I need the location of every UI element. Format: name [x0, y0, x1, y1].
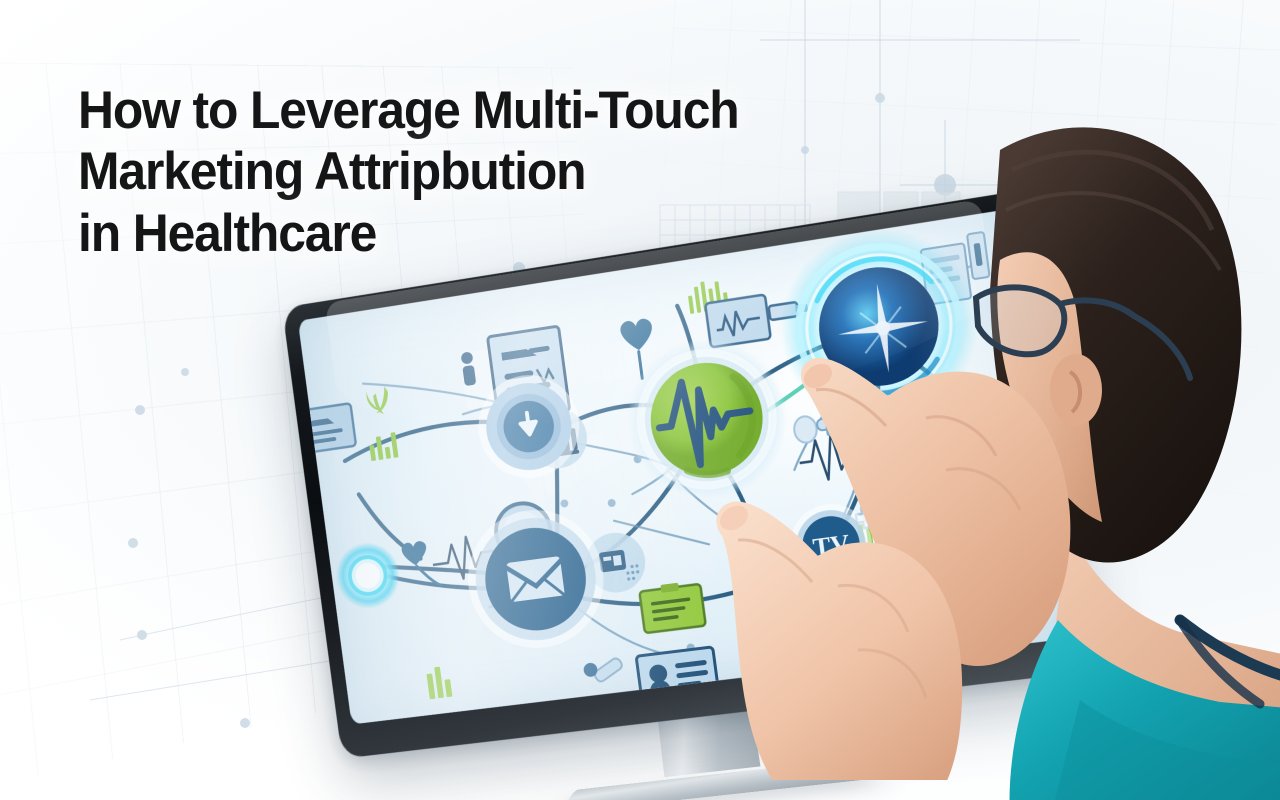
- page-title-line-3: in Healthcare: [78, 203, 886, 264]
- list-card-icon[interactable]: [299, 403, 356, 453]
- page-title-line-1: How to Leverage Multi-Touch: [78, 80, 886, 141]
- entry-touchpoint-glow-node[interactable]: [332, 539, 404, 613]
- page-title-line-2: Marketing Attripbution: [78, 141, 886, 202]
- scene-root: How to Leverage Multi-Touch Marketing At…: [0, 0, 1280, 800]
- leaf-icon: [366, 386, 391, 416]
- envelope-icon: [506, 556, 565, 602]
- syringe-icon: [582, 656, 625, 685]
- hands-group: [690, 300, 1110, 780]
- email-node[interactable]: [460, 501, 612, 655]
- page-title: How to Leverage Multi-Touch Marketing At…: [78, 80, 886, 264]
